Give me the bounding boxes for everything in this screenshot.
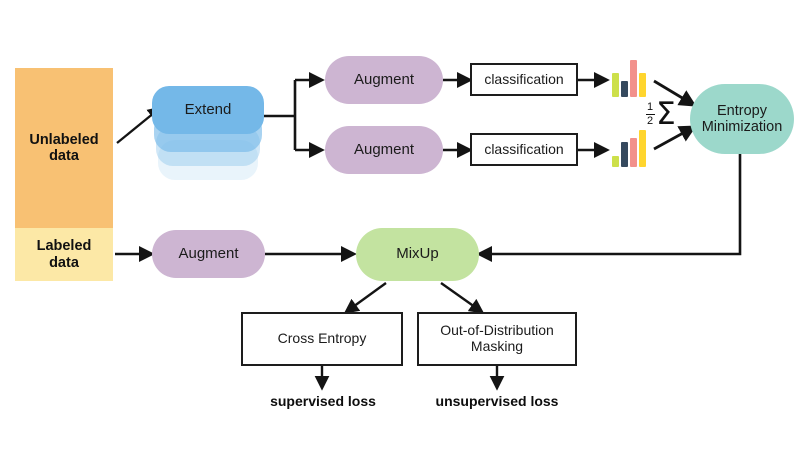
augment-labeled-label: Augment	[178, 246, 238, 263]
unsupervised-loss-text: unsupervised loss	[436, 394, 559, 410]
entropy-minimization-label-line1: Entropy	[717, 103, 767, 119]
unsupervised-loss-label: unsupervised loss	[416, 392, 578, 412]
entropy-minimization-label-line2: Minimization	[702, 119, 783, 135]
histogram-bar	[630, 138, 637, 167]
ood-masking-node[interactable]: Out-of-Distribution Masking	[417, 312, 577, 366]
ood-masking-label-line2: Masking	[471, 339, 523, 355]
histogram-bar	[621, 142, 628, 167]
extend-stack[interactable]: Extend	[152, 86, 264, 190]
histogram-bar	[639, 73, 646, 97]
entropy-minimization-node[interactable]: Entropy Minimization	[690, 84, 794, 154]
histogram-bar	[612, 73, 619, 97]
unlabeled-data-label-line2: data	[49, 148, 79, 164]
supervised-loss-label: supervised loss	[243, 392, 403, 412]
prediction-histogram-bottom	[612, 130, 652, 167]
augment-bottom-label: Augment	[354, 142, 414, 159]
augment-labeled-node[interactable]: Augment	[152, 230, 265, 278]
augment-bottom-node[interactable]: Augment	[325, 126, 443, 174]
augment-top-node[interactable]: Augment	[325, 56, 443, 104]
unlabeled-data-label-line1: Unlabeled	[29, 132, 98, 148]
classification-bottom-label: classification	[484, 142, 563, 158]
edge-mixup-to-cross-entropy	[346, 283, 386, 312]
one-half-fraction: 1 2	[645, 102, 655, 128]
classification-top-label: classification	[484, 72, 563, 88]
supervised-loss-text: supervised loss	[270, 394, 376, 410]
histogram-bar	[630, 60, 637, 97]
mixup-node[interactable]: MixUp	[356, 228, 479, 281]
classification-top-node[interactable]: classification	[470, 63, 578, 96]
labeled-data-label-line1: Labeled	[37, 238, 92, 254]
edge-entropy-to-mixup	[479, 154, 740, 254]
half-sum-operator: 1 2 Σ	[645, 99, 676, 130]
histogram-bar	[639, 130, 646, 167]
cross-entropy-node[interactable]: Cross Entropy	[241, 312, 403, 366]
labeled-data-label-line2: data	[49, 255, 79, 271]
labeled-data-block[interactable]: Labeled data	[15, 228, 113, 281]
unlabeled-data-block[interactable]: Unlabeled data	[15, 68, 113, 228]
extend-node[interactable]: Extend	[152, 86, 264, 134]
augment-top-label: Augment	[354, 72, 414, 89]
sigma-icon: Σ	[656, 99, 676, 130]
cross-entropy-label: Cross Entropy	[278, 331, 367, 347]
prediction-histogram-top	[612, 60, 652, 97]
extend-node-label: Extend	[185, 102, 232, 119]
edge-mixup-to-ood-masking	[441, 283, 482, 312]
mixup-label: MixUp	[396, 246, 439, 263]
diagram-canvas: Unlabeled data Labeled data Extend Augme…	[0, 0, 797, 452]
classification-bottom-node[interactable]: classification	[470, 133, 578, 166]
histogram-bar	[612, 156, 619, 167]
fraction-denominator: 2	[645, 116, 655, 127]
histogram-bar	[621, 81, 628, 97]
fraction-numerator: 1	[645, 102, 655, 113]
ood-masking-label-line1: Out-of-Distribution	[440, 323, 554, 339]
